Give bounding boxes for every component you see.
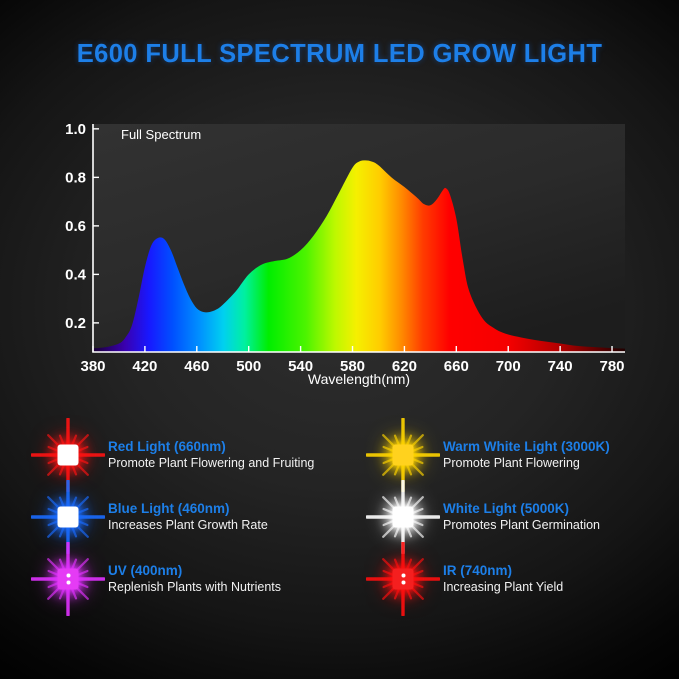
legend-text: Warm White Light (3000K) Promote Plant F…: [441, 438, 610, 472]
legend-desc: Increases Plant Growth Rate: [108, 517, 268, 534]
led-chip: [58, 507, 79, 528]
legend-title: Warm White Light (3000K): [443, 438, 610, 455]
legend-title: UV (400nm): [108, 562, 281, 579]
x-tick-label: 460: [184, 358, 209, 375]
legend-text: Blue Light (460nm) Increases Plant Growt…: [106, 500, 268, 534]
legend-title: Red Light (660nm): [108, 438, 314, 455]
list-item[interactable]: Red Light (660nm) Promote Plant Flowerin…: [30, 424, 350, 486]
led-chip: [393, 445, 414, 466]
x-tick-label: 420: [132, 358, 157, 375]
x-tick-label: 780: [600, 358, 625, 375]
legend-desc: Increasing Plant Yield: [443, 579, 563, 596]
uv-led-chip-icon: [30, 548, 106, 610]
list-item[interactable]: White Light (5000K) Promotes Plant Germi…: [365, 486, 679, 548]
legend-column-left: Red Light (660nm) Promote Plant Flowerin…: [30, 424, 350, 610]
legend-title: White Light (5000K): [443, 500, 600, 517]
legend-column-right: Warm White Light (3000K) Promote Plant F…: [365, 424, 679, 610]
legend-desc: Promote Plant Flowering and Fruiting: [108, 455, 314, 472]
legend-desc: Promotes Plant Germination: [443, 517, 600, 534]
y-tick-label: 0.2: [65, 315, 86, 332]
list-item[interactable]: UV (400nm) Replenish Plants with Nutrien…: [30, 548, 350, 610]
red-led-chip-icon: [30, 424, 106, 486]
legend-desc: Promote Plant Flowering: [443, 455, 610, 472]
y-tick-label: 1.0: [65, 121, 86, 138]
y-tick-label: 0.4: [65, 266, 87, 283]
ir-led-chip-icon: [365, 548, 441, 610]
legend-text: UV (400nm) Replenish Plants with Nutrien…: [106, 562, 281, 596]
legend-text: White Light (5000K) Promotes Plant Germi…: [441, 500, 600, 534]
led-chip: [393, 507, 414, 528]
list-item[interactable]: IR (740nm) Increasing Plant Yield: [365, 548, 679, 610]
x-tick-label: 380: [80, 358, 105, 375]
spectrum-chart-svg: 380420460500540580620660700740780 0.20.4…: [55, 118, 635, 388]
white-led-chip-icon: [365, 486, 441, 548]
y-tick-label: 0.8: [65, 169, 86, 186]
warm-white-led-chip-icon: [365, 424, 441, 486]
x-axis-title: Wavelength(nm): [308, 371, 410, 387]
led-chip: [58, 569, 79, 590]
list-item[interactable]: Warm White Light (3000K) Promote Plant F…: [365, 424, 679, 486]
led-chip: [58, 445, 79, 466]
series-label: Full Spectrum: [121, 127, 201, 142]
x-tick-label: 500: [236, 358, 261, 375]
legend-desc: Replenish Plants with Nutrients: [108, 579, 281, 596]
x-tick-label: 700: [496, 358, 521, 375]
spectrum-chart: 380420460500540580620660700740780 0.20.4…: [55, 118, 635, 388]
spectrum-infographic: E600 FULL SPECTRUM LED GROW LIGHT: [0, 0, 679, 679]
legend-title: IR (740nm): [443, 562, 563, 579]
page-title: E600 FULL SPECTRUM LED GROW LIGHT: [0, 40, 679, 69]
list-item[interactable]: Blue Light (460nm) Increases Plant Growt…: [30, 486, 350, 548]
legend: Red Light (660nm) Promote Plant Flowerin…: [0, 424, 679, 639]
y-tick-label: 0.6: [65, 218, 86, 235]
x-tick-label: 660: [444, 358, 469, 375]
legend-title: Blue Light (460nm): [108, 500, 268, 517]
legend-text: IR (740nm) Increasing Plant Yield: [441, 562, 563, 596]
legend-text: Red Light (660nm) Promote Plant Flowerin…: [106, 438, 314, 472]
led-chip: [393, 569, 414, 590]
blue-led-chip-icon: [30, 486, 106, 548]
x-tick-label: 740: [548, 358, 573, 375]
